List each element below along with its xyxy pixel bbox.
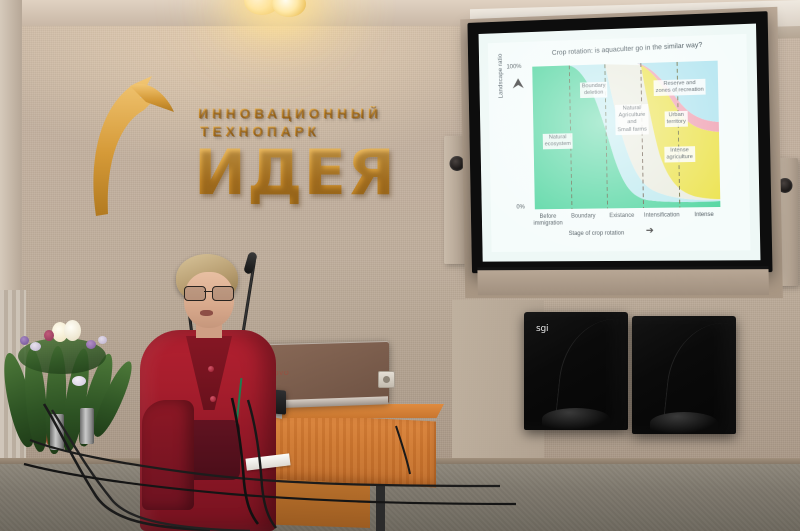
lens-left xyxy=(184,286,206,301)
cable-bundle xyxy=(0,390,520,531)
region-label-intense-agriculture: Intenseagriculture xyxy=(664,146,695,163)
logo-wordmark: ИДЕЯ xyxy=(194,136,396,209)
white-bloom xyxy=(72,376,86,386)
region-label-boundary-deletion: Boundarydeletion xyxy=(580,82,608,99)
speaker-dome xyxy=(650,412,718,434)
glasses-bridge xyxy=(204,291,213,292)
x-tick-boundary: Boundary xyxy=(565,212,603,219)
white-bloom xyxy=(98,336,107,344)
speaker-dome xyxy=(542,408,610,430)
region-label-natural-ecosystem: Naturalecosystem xyxy=(543,133,573,150)
region-label-reserve: Reserve andzones of recreation xyxy=(654,79,706,97)
lens-right xyxy=(212,286,234,301)
mouth xyxy=(200,310,213,316)
purple-bloom xyxy=(86,340,96,349)
screen-frame: Crop rotation: is aquaculter go in the s… xyxy=(467,11,772,273)
eyeglasses xyxy=(183,286,235,300)
y-axis-label: Landscape ratio xyxy=(497,54,504,99)
x-tick-intensification: Intensification xyxy=(638,211,686,218)
logo-line-1: ИННОВАЦИОННЫЙ xyxy=(198,106,382,121)
y-tick-top: 100% xyxy=(506,63,521,70)
logo-swoosh-icon xyxy=(82,68,182,218)
region-label-urban-territory: Urbanterritory xyxy=(665,111,688,128)
conference-room-photo: ИННОВАЦИОННЫЙ ТЕХНОПАРК ИДЕЯ Crop rotati… xyxy=(0,0,800,531)
projected-slide: Crop rotation: is aquaculter go in the s… xyxy=(479,24,761,262)
sgi-logo: sgi xyxy=(536,324,548,334)
x-axis-title: Stage of crop rotation xyxy=(569,230,625,237)
pink-bloom xyxy=(44,330,54,341)
x-tick-before-immigration: Beforeimmigration xyxy=(528,213,569,227)
jacket-button xyxy=(208,366,214,372)
floor-speaker-right xyxy=(632,316,736,434)
slide-canvas: Crop rotation: is aquaculter go in the s… xyxy=(488,34,751,252)
floor-speaker-left: sgi xyxy=(524,312,628,430)
x-axis-arrow-icon: ➔ xyxy=(646,226,654,236)
region-label-natural-agriculture: NaturalAgricultureandSmall farms xyxy=(615,104,649,135)
y-tick-bottom: 0% xyxy=(516,204,525,211)
wall-logo-idea: ИННОВАЦИОННЫЙ ТЕХНОПАРК ИДЕЯ xyxy=(82,58,412,233)
white-bloom xyxy=(30,342,41,351)
projection-screen-assembly: Crop rotation: is aquaculter go in the s… xyxy=(467,2,800,310)
x-tick-intense: Intense xyxy=(687,211,722,218)
wall-power-outlet xyxy=(378,371,395,388)
slide-title: Crop rotation: is aquaculter go in the s… xyxy=(519,40,737,59)
purple-bloom xyxy=(20,336,29,345)
y-axis-arrow-icon: ⮝ xyxy=(512,77,524,92)
x-axis-ticks: Beforeimmigration Boundary Existance Int… xyxy=(533,211,729,233)
lily-bloom xyxy=(64,320,81,341)
x-tick-existance: Existance xyxy=(604,212,640,219)
screen-valance xyxy=(477,266,769,295)
